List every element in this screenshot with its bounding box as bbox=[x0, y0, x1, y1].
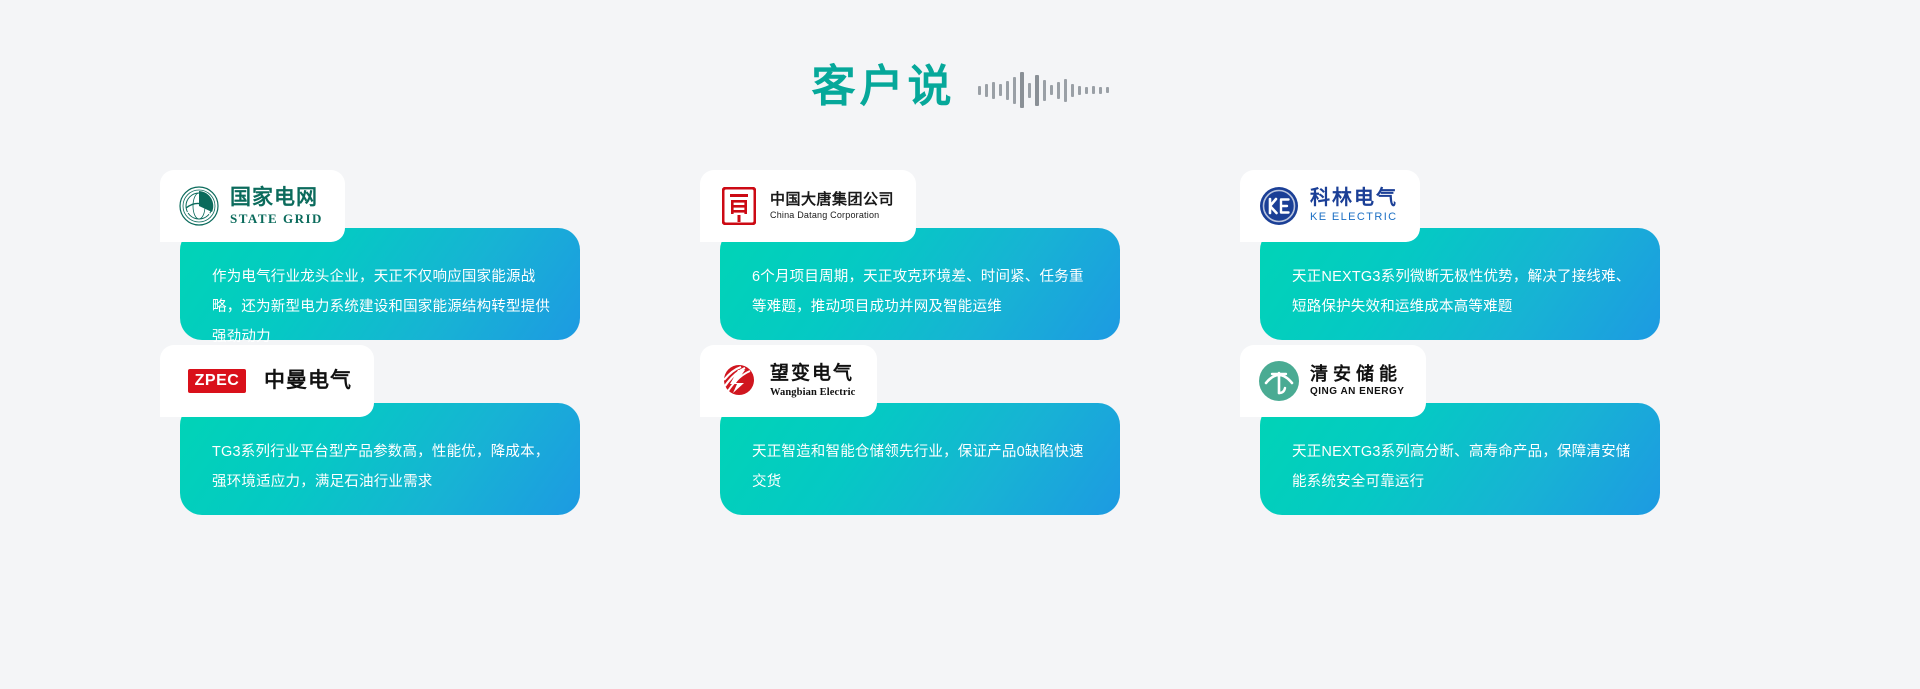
brand-logo-chip: 望变电气 Wangbian Electric bbox=[700, 345, 877, 417]
brand-logo-chip: ZPEC 中曼电气 bbox=[160, 345, 374, 417]
ke-electric-circle-icon bbox=[1258, 185, 1300, 227]
brand-name-en: Wangbian Electric bbox=[770, 387, 855, 398]
testimonial-card[interactable]: 天正NEXTG3系列微断无极性优势，解决了接线难、短路保护失效和运维成本高等难题… bbox=[1240, 170, 1780, 345]
testimonial-quote: 作为电气行业龙头企业，天正不仅响应国家能源战略，还为新型电力系统建设和国家能源结… bbox=[212, 262, 552, 352]
testimonial-quote: 天正NEXTG3系列高分断、高寿命产品，保障清安储能系统安全可靠运行 bbox=[1292, 437, 1632, 497]
brand-name-block: 清安储能 QING AN ENERGY bbox=[1310, 365, 1404, 397]
brand-name-block: 中国大唐集团公司 China Datang Corporation bbox=[770, 192, 894, 220]
state-grid-globe-icon bbox=[178, 185, 220, 227]
audio-waveform-icon bbox=[978, 62, 1109, 112]
testimonial-quote: 6个月项目周期，天正攻克环境差、时间紧、任务重等难题，推动项目成功并网及智能运维 bbox=[752, 262, 1092, 322]
customer-testimonials-section: 客户说 作为电气行业龙头企业，天正不仅响应 bbox=[0, 0, 1920, 689]
card-gradient-body: 天正NEXTG3系列微断无极性优势，解决了接线难、短路保护失效和运维成本高等难题 bbox=[1260, 228, 1660, 340]
testimonial-quote: 天正智造和智能仓储领先行业，保证产品0缺陷快速交货 bbox=[752, 437, 1092, 497]
brand-name-cn: 科林电气 bbox=[1310, 188, 1398, 209]
testimonial-card[interactable]: 作为电气行业龙头企业，天正不仅响应国家能源战略，还为新型电力系统建设和国家能源结… bbox=[160, 170, 700, 345]
brand-name-block: 国家电网 STATE GRID bbox=[230, 187, 323, 226]
brand-name-cn: 国家电网 bbox=[230, 187, 323, 209]
page-title: 客户说 bbox=[812, 65, 956, 109]
section-header: 客户说 bbox=[0, 62, 1920, 112]
zpec-badge-icon: ZPEC bbox=[178, 360, 256, 402]
testimonial-card-grid: 作为电气行业龙头企业，天正不仅响应国家能源战略，还为新型电力系统建设和国家能源结… bbox=[160, 170, 1780, 520]
card-gradient-body: 天正NEXTG3系列高分断、高寿命产品，保障清安储能系统安全可靠运行 bbox=[1260, 403, 1660, 515]
brand-name-cn: 中曼电气 bbox=[264, 370, 352, 392]
brand-name-block: 中曼电气 bbox=[264, 370, 352, 392]
testimonial-card[interactable]: 天正NEXTG3系列高分断、高寿命产品，保障清安储能系统安全可靠运行 清安储能 … bbox=[1240, 345, 1780, 520]
brand-name-en: STATE GRID bbox=[230, 212, 323, 226]
card-gradient-body: 天正智造和智能仓储领先行业，保证产品0缺陷快速交货 bbox=[720, 403, 1120, 515]
brand-name-en: QING AN ENERGY bbox=[1310, 387, 1404, 398]
brand-logo-chip: 科林电气 KE ELECTRIC bbox=[1240, 170, 1420, 242]
brand-name-cn: 望变电气 bbox=[770, 364, 855, 384]
brand-name-block: 望变电气 Wangbian Electric bbox=[770, 364, 855, 398]
datang-seal-icon bbox=[718, 185, 760, 227]
brand-name-cn: 清安储能 bbox=[1310, 365, 1404, 384]
brand-logo-chip: 清安储能 QING AN ENERGY bbox=[1240, 345, 1426, 417]
card-gradient-body: TG3系列行业平台型产品参数高，性能优，降成本，强环境适应力，满足石油行业需求 bbox=[180, 403, 580, 515]
brand-name-en: KE ELECTRIC bbox=[1310, 212, 1398, 224]
zpec-wordmark: ZPEC bbox=[188, 369, 247, 393]
brand-name-block: 科林电气 KE ELECTRIC bbox=[1310, 188, 1398, 224]
card-gradient-body: 6个月项目周期，天正攻克环境差、时间紧、任务重等难题，推动项目成功并网及智能运维 bbox=[720, 228, 1120, 340]
testimonial-card[interactable]: 天正智造和智能仓储领先行业，保证产品0缺陷快速交货 望变电气 Wangbian … bbox=[700, 345, 1240, 520]
brand-name-en: China Datang Corporation bbox=[770, 211, 894, 220]
brand-logo-chip: 中国大唐集团公司 China Datang Corporation bbox=[700, 170, 916, 242]
card-gradient-body: 作为电气行业龙头企业，天正不仅响应国家能源战略，还为新型电力系统建设和国家能源结… bbox=[180, 228, 580, 340]
qingan-energy-circle-icon bbox=[1258, 360, 1300, 402]
wangbian-circle-icon bbox=[718, 360, 760, 402]
brand-name-cn: 中国大唐集团公司 bbox=[770, 192, 894, 208]
testimonial-card[interactable]: TG3系列行业平台型产品参数高，性能优，降成本，强环境适应力，满足石油行业需求 … bbox=[160, 345, 700, 520]
testimonial-quote: 天正NEXTG3系列微断无极性优势，解决了接线难、短路保护失效和运维成本高等难题 bbox=[1292, 262, 1632, 322]
brand-logo-chip: 国家电网 STATE GRID bbox=[160, 170, 345, 242]
testimonial-quote: TG3系列行业平台型产品参数高，性能优，降成本，强环境适应力，满足石油行业需求 bbox=[212, 437, 552, 497]
testimonial-card[interactable]: 6个月项目周期，天正攻克环境差、时间紧、任务重等难题，推动项目成功并网及智能运维 bbox=[700, 170, 1240, 345]
